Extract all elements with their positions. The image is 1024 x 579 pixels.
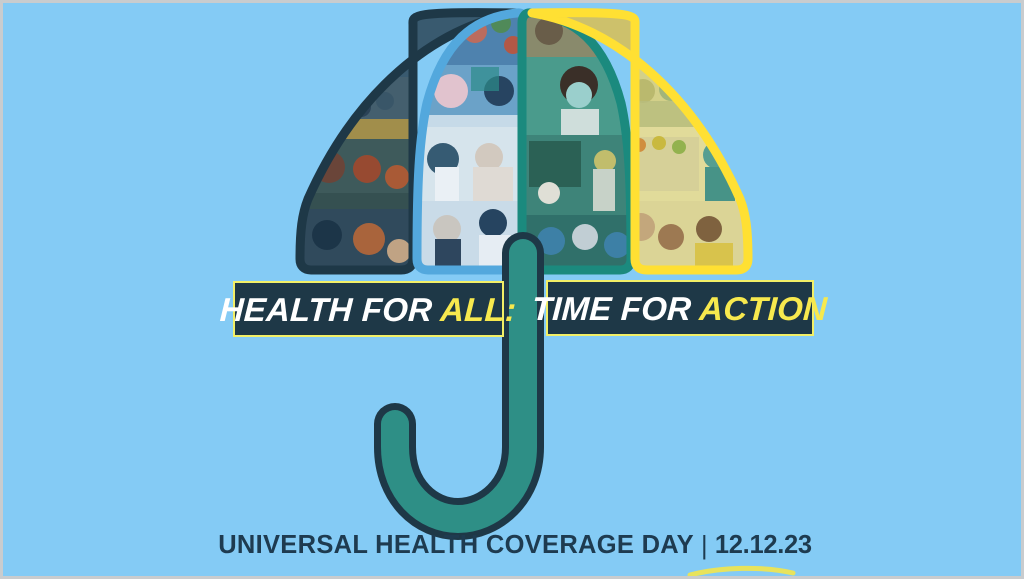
date-underline-arc <box>690 568 793 575</box>
umbrella-panel-blue <box>417 13 526 270</box>
umbrella-panel-teal <box>522 13 631 270</box>
footer-caption: UNIVERSAL HEALTH COVERAGE DAY|12.12.23 <box>3 531 1024 560</box>
footer-title: UNIVERSAL HEALTH COVERAGE DAY <box>218 531 694 559</box>
footer-separator: | <box>694 532 715 561</box>
banner-right-text-white: TIME FOR <box>531 290 700 327</box>
banner-right-text: TIME FOR ACTION <box>532 292 829 325</box>
banner-time-for-action: TIME FOR ACTION <box>546 280 814 336</box>
banner-left-text: HEALTH FOR ALL: <box>219 293 517 326</box>
banner-left-text-accent: ALL: <box>440 291 518 328</box>
banner-left-text-white: HEALTH FOR <box>219 291 441 328</box>
banner-health-for-all: HEALTH FOR ALL: <box>233 281 504 337</box>
poster-canvas: HEALTH FOR ALL: TIME FOR ACTION UNIVERSA… <box>0 0 1024 579</box>
footer-date: 12.12.23 <box>715 531 812 559</box>
banner-right-text-accent: ACTION <box>699 290 829 327</box>
